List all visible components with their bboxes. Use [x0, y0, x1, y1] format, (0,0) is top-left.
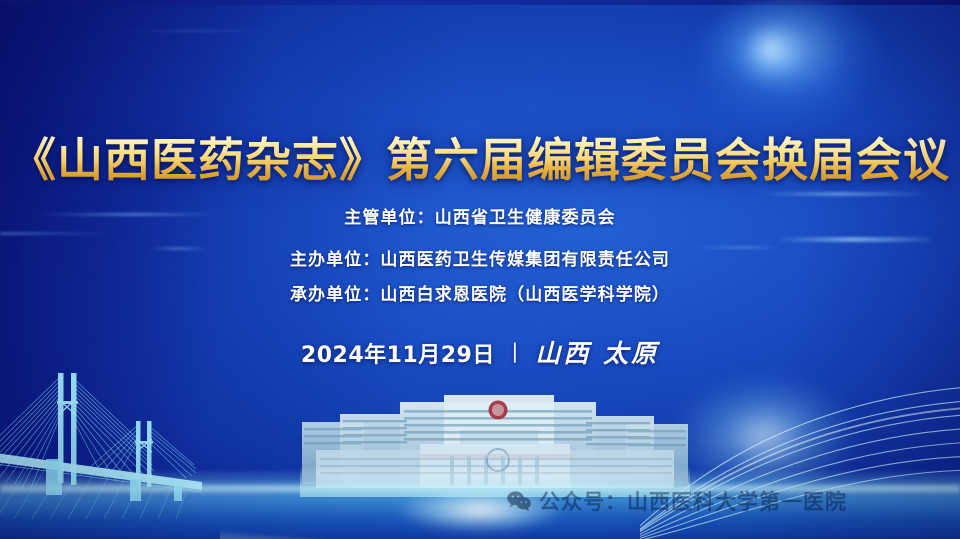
conference-poster: 《山西医药杂志》第六届编辑委员会换届会议 主管单位：山西省卫生健康委员会 主办单… [0, 0, 960, 539]
vignette-overlay [0, 0, 960, 539]
